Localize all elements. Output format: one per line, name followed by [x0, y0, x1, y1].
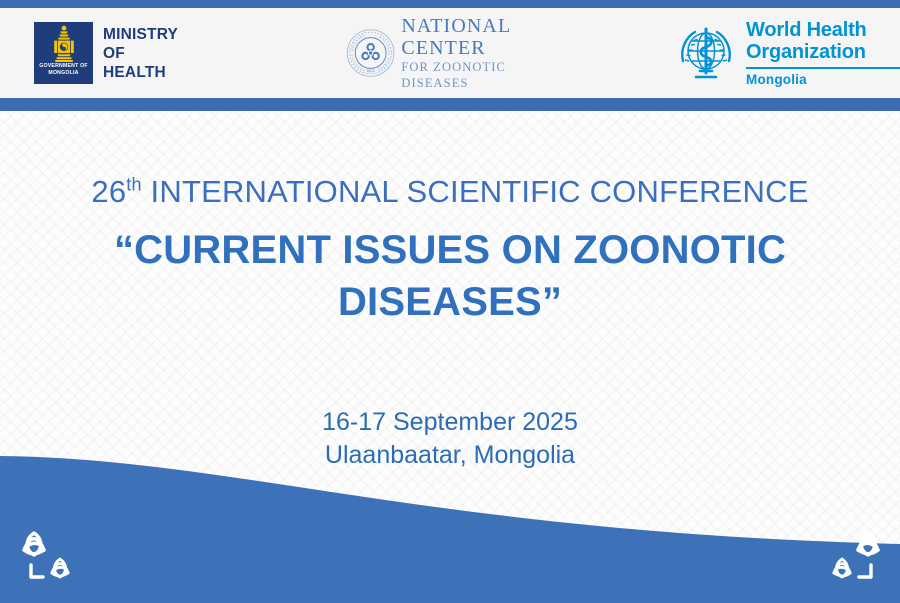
- header-divider-band: [0, 98, 900, 111]
- who-divider-rule: [746, 67, 900, 69]
- emblem-text-government: GOVERNMENT OF: [39, 63, 87, 70]
- who-name-line-1: World Health: [746, 19, 900, 41]
- ncz-name-line-2: FOR ZOONOTIC DISEASES: [401, 59, 538, 91]
- logo-ministry-of-health: GOVERNMENT OF MONGOLIA MINISTRY OF HEALT…: [34, 8, 184, 98]
- ncz-name-line-1: NATIONAL CENTER: [401, 15, 538, 59]
- sponsor-logo-band: GOVERNMENT OF MONGOLIA MINISTRY OF HEALT…: [0, 8, 900, 98]
- slide-text-block: 26th INTERNATIONAL SCIENTIFIC CONFERENCE…: [0, 111, 900, 472]
- ministry-name-line-2: OF HEALTH: [103, 44, 184, 82]
- mongolian-knot-ornament-right: [818, 528, 888, 590]
- conference-subtitle-text: INTERNATIONAL SCIENTIFIC CONFERENCE: [151, 174, 809, 209]
- soyombo-emblem-icon: [51, 25, 77, 63]
- ncz-name: NATIONAL CENTER FOR ZOONOTIC DISEASES: [401, 15, 538, 91]
- conference-title-slide: GOVERNMENT OF MONGOLIA MINISTRY OF HEALT…: [0, 0, 900, 603]
- ministry-name-line-1: MINISTRY: [103, 25, 184, 44]
- mongolia-government-emblem: GOVERNMENT OF MONGOLIA: [34, 22, 93, 84]
- conference-location: Ulaanbaatar, Mongolia: [0, 439, 900, 472]
- top-accent-rule: [0, 0, 900, 8]
- page-title: “CURRENT ISSUES ON ZOONOTIC DISEASES”: [0, 224, 900, 328]
- conference-number-suffix: th: [126, 175, 141, 195]
- who-name: World Health Organization Mongolia: [746, 19, 900, 87]
- conference-number: 26: [91, 174, 126, 209]
- conference-dates: 16-17 September 2025: [0, 406, 900, 439]
- wave-blue: [0, 456, 900, 603]
- ministry-of-health-name: MINISTRY OF HEALTH: [103, 25, 184, 82]
- emblem-text-mongolia: MONGOLIA: [48, 70, 78, 77]
- mongolian-knot-ornament-left: [14, 528, 84, 590]
- who-rod-of-asclepius-icon: [674, 21, 738, 85]
- who-name-line-2: Organization: [746, 41, 900, 63]
- logo-world-health-organization: World Health Organization Mongolia: [674, 8, 900, 98]
- logo-national-center-zoonotic-diseases: 1951 NATIONAL CENTER FOR ZOONOTIC DISEAS…: [346, 8, 538, 98]
- who-country-label: Mongolia: [746, 72, 900, 87]
- conference-subtitle: 26th INTERNATIONAL SCIENTIFIC CONFERENCE: [0, 174, 900, 210]
- biohazard-seal-icon: 1951 NATIONAL CENTER FOR ZOONOTIC DISEAS…: [346, 17, 395, 89]
